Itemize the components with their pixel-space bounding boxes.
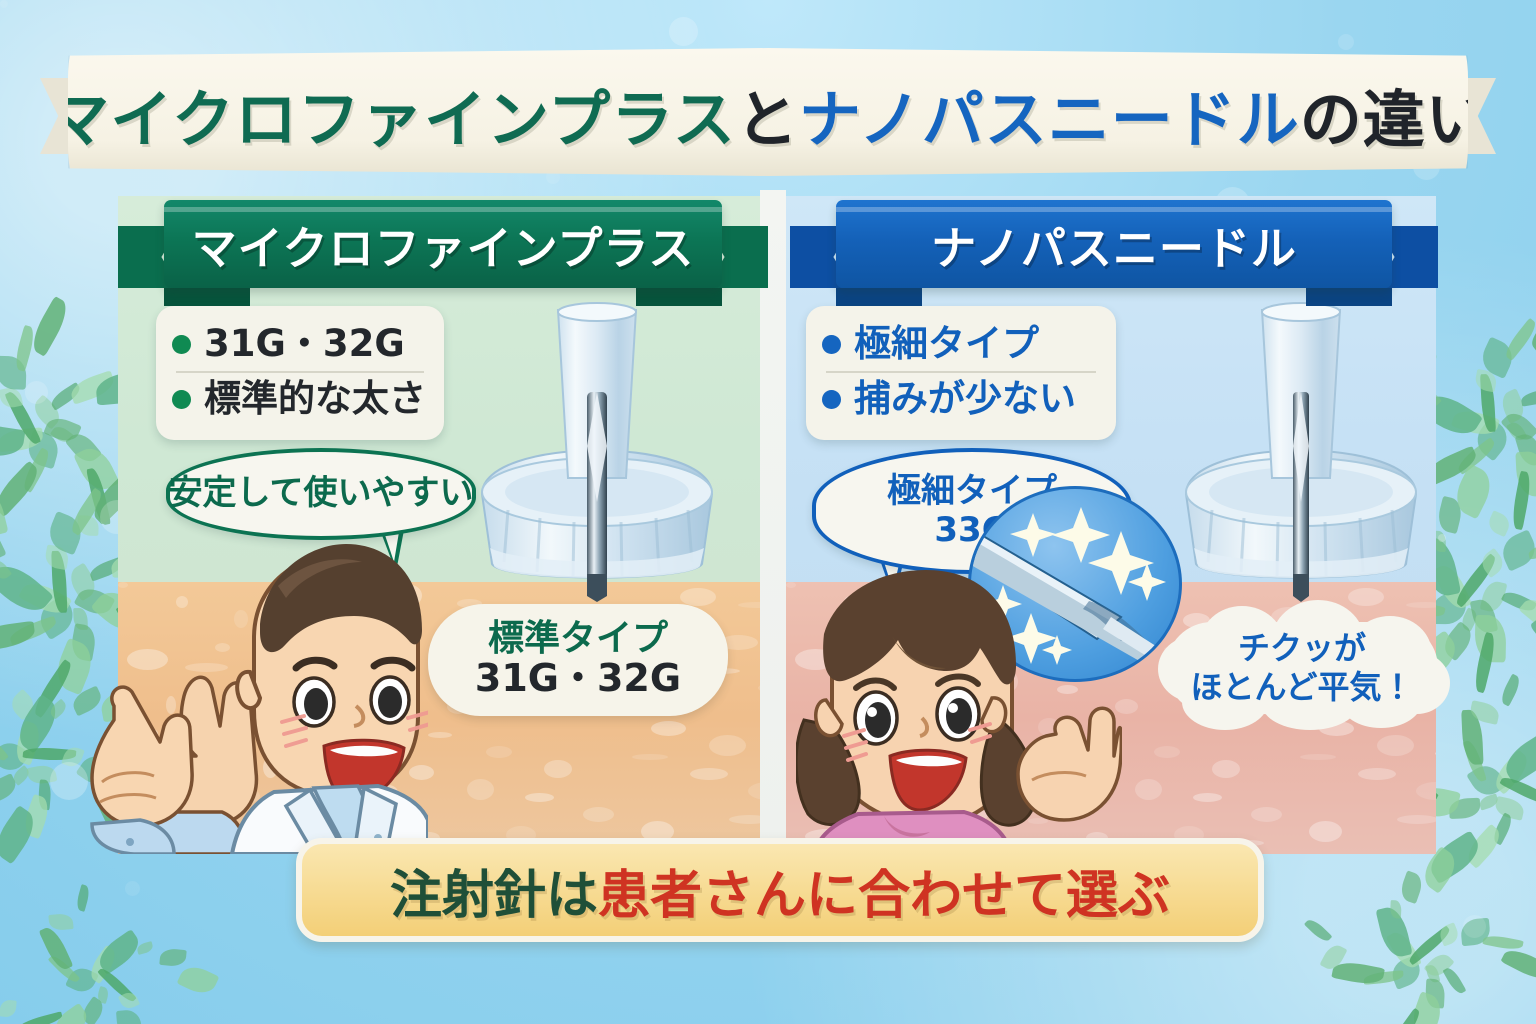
ribbon-fold-left: [164, 288, 250, 306]
skin-texture-speck: [651, 721, 686, 736]
bullet-label: 31G・32G: [204, 325, 405, 364]
title-segment-green: マイクロファインプラス: [47, 83, 736, 156]
leaf-shape: [116, 1009, 142, 1024]
ribbon-header-microfine: マイクロファインプラス: [118, 200, 768, 288]
leaf-shape: [1398, 871, 1425, 904]
bullet-dot-icon: [822, 335, 841, 354]
watercolor-dot: [669, 17, 698, 46]
bottom-banner-text: 注射針は患者さんに合わせて選ぶ: [390, 853, 1170, 928]
panel-divider: [760, 190, 786, 854]
watercolor-dot: [125, 881, 140, 896]
leaf-shape: [1520, 388, 1536, 406]
skin-texture-speck: [467, 779, 494, 800]
bottom-text-red: 患者さんに合わせて選ぶ: [598, 866, 1170, 926]
ribbon-fold-left: [836, 288, 922, 306]
leaf-shape: [1304, 917, 1332, 945]
skin-texture-speck: [1251, 807, 1282, 822]
leaf-shape: [1498, 674, 1523, 707]
leaf-shape: [0, 999, 17, 1017]
bottom-text-dark: 注射針は: [390, 866, 598, 926]
cloud-line2: ほとんど平気！: [1190, 668, 1413, 707]
infographic-canvas: マイクロファインプラスとナノパスニードルの違い: [0, 0, 1536, 1024]
title-segment-conjunction: と: [736, 83, 799, 156]
bullet-item: 極細タイプ: [822, 318, 1100, 371]
skin-texture-speck: [428, 732, 452, 738]
bullet-card-microfine: 31G・32G 標準的な太さ: [156, 306, 444, 440]
skin-texture-speck: [1193, 793, 1222, 802]
leaf-shape: [1483, 933, 1524, 951]
watercolor-dot: [1463, 915, 1486, 938]
skin-texture-speck: [525, 793, 554, 802]
bullet-item: 31G・32G: [172, 318, 428, 371]
pen-needle-illustration-left: [466, 296, 728, 606]
title-banner-body: マイクロファインプラスとナノパスニードルの違い: [68, 48, 1468, 176]
skin-texture-speck: [1154, 746, 1180, 758]
title-segment-suffix: の違い: [1300, 83, 1489, 156]
leaf-shape: [1485, 511, 1513, 538]
page-title: マイクロファインプラスとナノパスニードルの違い: [47, 69, 1489, 159]
standard-type-gauge: 31G・32G: [475, 658, 681, 700]
skin-texture-speck: [1416, 782, 1436, 800]
watercolor-dot: [1438, 534, 1446, 542]
ribbon-header-nanopass: ナノパスニードル: [790, 200, 1438, 288]
skin-texture-speck: [1135, 779, 1162, 800]
skin-texture-speck: [1212, 760, 1240, 778]
skin-texture-speck: [1300, 754, 1336, 760]
ribbon-highlight: [836, 207, 1392, 212]
skin-texture-speck: [1397, 815, 1436, 824]
standard-type-title: 標準タイプ: [488, 620, 668, 658]
bullet-item: 標準的な太さ: [172, 373, 428, 426]
title-segment-blue: ナノパスニードル: [799, 83, 1300, 156]
leaf-shape: [1390, 901, 1402, 919]
bullet-label: 標準的な太さ: [204, 380, 426, 419]
bullet-dot-icon: [172, 390, 191, 409]
skin-texture-speck: [1435, 749, 1436, 758]
leaf-shape: [0, 621, 37, 652]
speech-bubble-text: 安定して使いやすい: [169, 474, 474, 513]
skin-texture-speck: [486, 746, 512, 758]
cloud-line1: チクッが: [1238, 629, 1366, 668]
bullet-label: 捕みが少ない: [854, 380, 1076, 419]
skin-texture-speck: [786, 582, 796, 588]
bullet-label: 極細タイプ: [854, 325, 1039, 364]
bullet-card-nanopass: 極細タイプ 捕みが少ない: [806, 306, 1116, 440]
skin-texture-speck: [1309, 821, 1342, 842]
ribbon-label-microfine: マイクロファインプラス: [192, 212, 695, 277]
pen-needle-illustration-right: [1170, 296, 1432, 606]
bullet-item: 捕みが少ない: [822, 373, 1100, 426]
leaf-shape: [1501, 944, 1536, 984]
ribbon-body: ナノパスニードル: [836, 200, 1392, 288]
leaf-shape: [177, 962, 220, 999]
leaf-shape: [75, 884, 91, 912]
doctor-character-illustration: [78, 520, 428, 854]
watercolor-dot: [25, 381, 48, 404]
watercolor-dot: [0, 0, 8, 8]
leaf-shape: [160, 948, 187, 967]
girl-character-illustration: [796, 570, 1122, 854]
leaf-shape: [49, 913, 74, 931]
leaf-shape: [1442, 965, 1466, 995]
ribbon-highlight: [164, 207, 722, 212]
bullet-dot-icon: [172, 335, 191, 354]
skin-texture-speck: [690, 768, 728, 780]
ribbon-body: マイクロファインプラス: [164, 200, 722, 288]
leaf-shape: [26, 296, 73, 356]
title-banner: マイクロファインプラスとナノパスニードルの違い: [40, 48, 1496, 176]
leaf-shape: [12, 325, 36, 372]
bottom-summary-banner: 注射針は患者さんに合わせて選ぶ: [296, 838, 1264, 942]
leaf-shape: [1502, 318, 1536, 361]
skin-texture-speck: [709, 735, 746, 756]
skin-texture-speck: [544, 760, 572, 778]
ribbon-label-nanopass: ナノパスニードル: [931, 212, 1297, 277]
skin-texture-speck: [583, 807, 614, 822]
skin-texture-speck: [1358, 768, 1396, 780]
skin-texture-speck: [632, 754, 668, 760]
ribbon-fold-right: [636, 288, 722, 306]
cloud-bubble-body: チクッが ほとんど平気！: [1166, 622, 1438, 714]
cloud-bubble-girl: チクッが ほとんど平気！: [1152, 600, 1452, 728]
bullet-dot-icon: [822, 390, 841, 409]
skin-texture-speck: [1377, 735, 1414, 756]
ribbon-fold-right: [1306, 288, 1392, 306]
standard-type-label: 標準タイプ 31G・32G: [428, 604, 728, 716]
